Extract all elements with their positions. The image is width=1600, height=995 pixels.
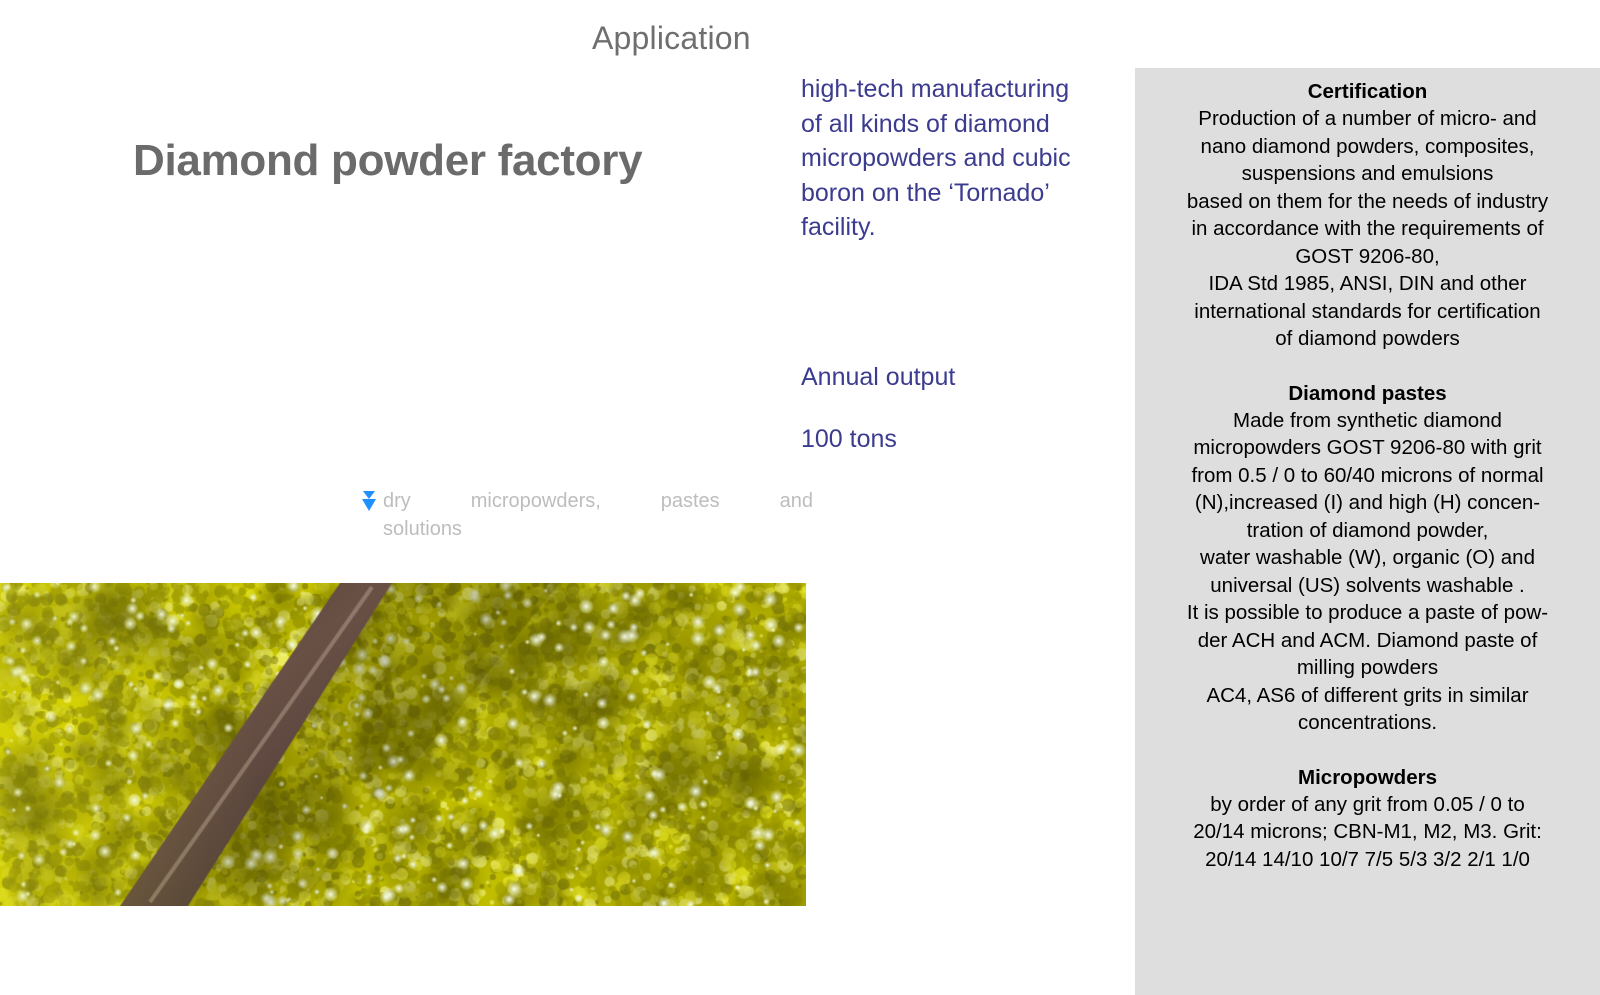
panel-spacer xyxy=(1137,737,1598,764)
diamond-powder-photo xyxy=(0,583,806,906)
info-section-certification: Certification Production of a number of … xyxy=(1137,78,1598,353)
info-section-body: Production of a number of micro- and nan… xyxy=(1137,105,1598,353)
bullet-item-line-2: solutions xyxy=(383,518,462,540)
diamond-powder-photo-canvas xyxy=(0,583,806,906)
bullet-item-line-1: dry micropowders, pastes and xyxy=(383,487,813,515)
info-section-diamond-pastes: Diamond pastes Made from synthetic diamo… xyxy=(1137,380,1598,737)
annual-output-label: Annual output xyxy=(801,363,955,392)
info-section-body: Made from synthetic diamond micropowders… xyxy=(1137,407,1598,737)
panel-spacer xyxy=(1137,353,1598,380)
bullet-item-text: dry micropowders, pastes and solutions xyxy=(383,487,813,543)
info-section-title: Certification xyxy=(1137,78,1598,105)
info-section-title: Diamond pastes xyxy=(1137,380,1598,407)
info-section-title: Micropowders xyxy=(1137,764,1598,791)
info-section-micropowders: Micropowders by order of any grit from 0… xyxy=(1137,764,1598,874)
annual-output-value: 100 tons xyxy=(801,425,897,454)
page-title: Diamond powder factory xyxy=(133,136,642,186)
info-section-body: by order of any grit from 0.05 / 0 to 20… xyxy=(1137,791,1598,874)
section-heading: Application xyxy=(592,20,751,57)
application-description: high-tech manufacturing of all kinds of … xyxy=(801,72,1073,245)
double-chevron-down-icon xyxy=(361,487,383,514)
info-panel: Certification Production of a number of … xyxy=(1135,68,1600,995)
bullet-list-item: dry micropowders, pastes and solutions xyxy=(361,487,813,543)
